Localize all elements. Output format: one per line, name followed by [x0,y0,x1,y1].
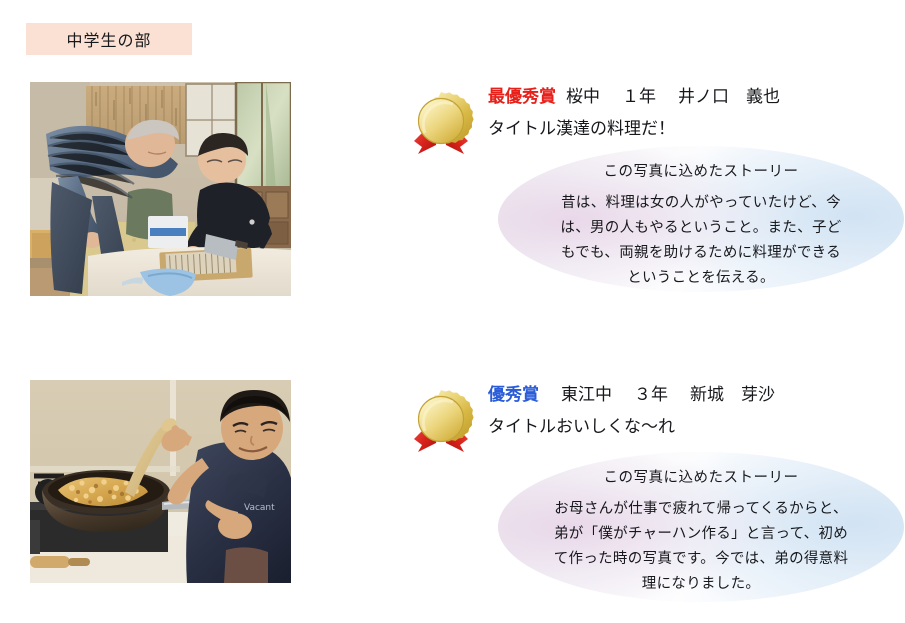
story-bubble: この写真に込めたストーリー お母さんが仕事で疲れて帰ってくるからと、 弟が「僕が… [498,452,904,602]
gold-medal-icon [404,383,478,457]
grade-label: １年 [622,87,656,107]
svg-text:Vacant: Vacant [244,503,275,513]
school-name: 東江中 [561,385,612,405]
award-text-lines: 優秀賞東江中３年新城 芽沙 タイトルおいしくな～れ [488,380,905,442]
title-text: 漢達の料理だ！ [556,119,675,139]
school-name: 桜中 [566,87,600,107]
prize-label: 優秀賞 [488,385,539,405]
gold-medal-icon [404,85,478,159]
story-line: 弟が「僕がチャーハン作る」と言って、初め [532,522,870,547]
story-line: 理になりました。 [532,572,870,597]
award-text-lines: 最優秀賞桜中１年井ノ口 義也 タイトル漢達の料理だ！ [488,82,905,144]
section-banner: 中学生の部 [26,23,192,55]
title-text: おいしくな～れ [556,417,675,437]
entry-photo [30,82,291,296]
student-name: 井ノ口 義也 [678,87,780,107]
award-line-title: タイトル漢達の料理だ！ [488,114,905,144]
student-name: 新城 芽沙 [690,385,775,405]
award-line-prize: 最優秀賞桜中１年井ノ口 義也 [488,82,905,112]
award-line-title: タイトルおいしくな～れ [488,412,905,442]
title-label: タイトル [488,417,556,437]
section-banner-label: 中学生の部 [66,27,151,51]
story-title: この写真に込めたストーリー [532,160,870,181]
story-body: お母さんが仕事で疲れて帰ってくるからと、 弟が「僕がチャーハン作る」と言って、初… [532,497,870,597]
photo-soba-making [30,82,291,296]
story-line: もでも、両親を助けるために料理ができる [532,241,870,266]
story-title: この写真に込めたストーリー [532,466,870,487]
story-line: は、男の人もやるということ。また、子ど [532,216,870,241]
story-line: ということを伝える。 [532,266,870,291]
story-line: て作った時の写真です。今では、弟の得意料 [532,547,870,572]
grade-label: ３年 [634,385,668,405]
story-line: お母さんが仕事で疲れて帰ってくるからと、 [532,497,870,522]
story-line: 昔は、料理は女の人がやっていたけど、今 [532,191,870,216]
story-body: 昔は、料理は女の人がやっていたけど、今 は、男の人もやるということ。また、子ど … [532,191,870,291]
entry-photo: Vacant [30,380,291,583]
title-label: タイトル [488,119,556,139]
photo-fried-rice-cooking: Vacant [30,380,291,583]
story-bubble: この写真に込めたストーリー 昔は、料理は女の人がやっていたけど、今 は、男の人も… [498,146,904,292]
prize-label: 最優秀賞 [488,87,556,107]
award-line-prize: 優秀賞東江中３年新城 芽沙 [488,380,905,410]
